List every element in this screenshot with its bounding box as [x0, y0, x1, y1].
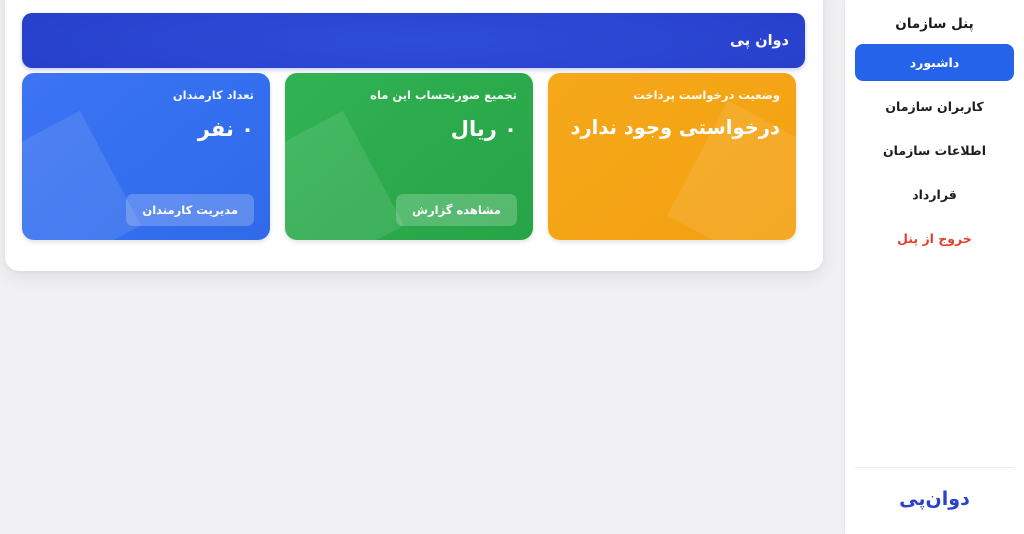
stat-card-invoice-value: ۰ ریال	[301, 117, 517, 141]
stat-card-employee-value: ۰ نفر	[38, 117, 254, 141]
stat-cards-row: وضعیت درخواست پرداخت درخواستی وجود ندارد…	[21, 73, 796, 240]
sidebar: پنل سازمان داشبورد کاربران سازمان اطلاعا…	[845, 0, 1024, 534]
sidebar-title: پنل سازمان	[845, 16, 1024, 32]
manage-employees-button[interactable]: مدیریت کارمندان	[126, 194, 254, 226]
stat-card-payment-title: وضعیت درخواست پرداخت	[564, 89, 780, 103]
sidebar-item-contract[interactable]: قرارداد	[855, 176, 1014, 213]
sidebar-spacer	[845, 264, 1024, 467]
sidebar-item-dashboard[interactable]: داشبورد	[855, 44, 1014, 81]
stat-card-invoice-total: تجمیع صورتحساب این ماه ۰ ریال مشاهده گزا…	[285, 73, 533, 240]
view-report-button[interactable]: مشاهده گزارش	[396, 194, 517, 226]
sidebar-item-organization-users[interactable]: کاربران سازمان	[855, 88, 1014, 125]
brand-banner-title: دوان پی	[730, 33, 805, 49]
stat-card-employee-count: تعداد کارمندان ۰ نفر مدیریت کارمندان	[22, 73, 270, 240]
stat-card-employee-title: تعداد کارمندان	[38, 89, 254, 103]
sidebar-nav: داشبورد کاربران سازمان اطلاعات سازمان قر…	[845, 44, 1024, 264]
main-content-panel: دوان پی وضعیت درخواست پرداخت درخواستی وج…	[5, 0, 823, 271]
stat-card-invoice-title: تجمیع صورتحساب این ماه	[301, 89, 517, 103]
stat-card-employee-action-wrap: مدیریت کارمندان	[38, 194, 254, 226]
stat-card-payment-status: وضعیت درخواست پرداخت درخواستی وجود ندارد	[548, 73, 796, 240]
sidebar-item-logout[interactable]: خروج از پنل	[855, 220, 1014, 257]
sidebar-footer: دوان‌پی	[845, 468, 1024, 534]
brand-banner: دوان پی	[22, 13, 805, 68]
stat-card-payment-value: درخواستی وجود ندارد	[564, 117, 780, 139]
stat-card-invoice-action-wrap: مشاهده گزارش	[301, 194, 517, 226]
brand-logo: دوان‌پی	[899, 488, 970, 510]
sidebar-item-organization-info[interactable]: اطلاعات سازمان	[855, 132, 1014, 169]
